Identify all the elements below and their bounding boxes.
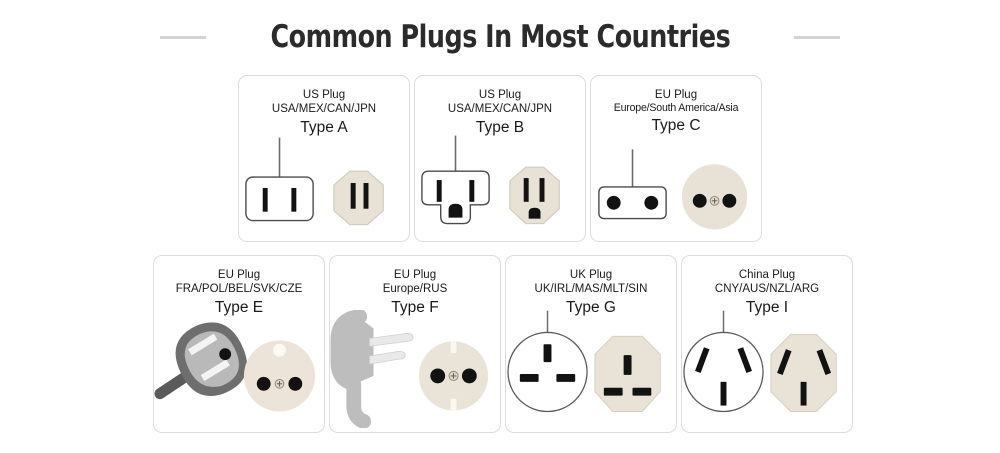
cn-type-i-socket-icon: [771, 334, 836, 411]
plug-countries: CNY/AUS/NZL/ARG: [685, 282, 849, 296]
uk-type-g-socket-icon: [595, 336, 660, 411]
plug-illustration-type-g: [506, 310, 676, 428]
plug-card-type-b[interactable]: US Plug USA/MEX/CAN/JPN Type B: [414, 75, 586, 242]
plug-type-label: Type C: [594, 116, 758, 135]
title-rule-right: [794, 36, 840, 39]
plug-countries: UK/IRL/MAS/MLT/SIN: [509, 282, 673, 296]
plug-name: EU Plug: [594, 88, 758, 102]
plug-name: EU Plug: [333, 268, 497, 282]
plug-illustration-type-e: [154, 310, 324, 428]
us-type-a-socket-icon: [334, 171, 383, 224]
plug-card-type-a[interactable]: US Plug USA/MEX/CAN/JPN Type A: [238, 75, 410, 242]
plug-card-type-e[interactable]: EU Plug FRA/POL/BEL/SVK/CZE Type E: [153, 255, 325, 433]
uk-type-g-plug-icon: [508, 311, 587, 412]
eu-type-c-socket-icon: [682, 164, 747, 229]
plug-illustration-type-f: [330, 310, 500, 428]
plug-card-type-f[interactable]: EU Plug Europe/RUS Type F: [329, 255, 501, 433]
card-text-type-b: US Plug USA/MEX/CAN/JPN Type B: [415, 88, 585, 137]
plug-name: China Plug: [685, 268, 849, 282]
plug-name: UK Plug: [509, 268, 673, 282]
eu-type-f-plug-icon: [336, 315, 413, 422]
plug-countries: FRA/POL/BEL/SVK/CZE: [157, 282, 321, 296]
title-rule-left: [160, 36, 206, 39]
eu-type-f-socket-icon: [419, 341, 488, 410]
plug-countries: USA/MEX/CAN/JPN: [418, 102, 582, 116]
card-text-type-c: EU Plug Europe/South America/Asia Type C: [591, 88, 761, 136]
plug-name: US Plug: [418, 88, 582, 102]
plug-illustration-type-c: [591, 135, 761, 235]
plug-countries: Europe/RUS: [333, 282, 497, 296]
plug-type-label: Type A: [242, 118, 406, 137]
plug-card-type-i[interactable]: China Plug CNY/AUS/NZL/ARG Type I: [681, 255, 853, 433]
plug-illustration-type-i: [682, 310, 852, 428]
plug-name: EU Plug: [157, 268, 321, 282]
eu-type-e-socket-icon: [244, 340, 315, 411]
us-type-b-plug-icon: [422, 136, 489, 224]
cn-type-i-plug-icon: [684, 311, 763, 412]
plug-card-type-g[interactable]: UK Plug UK/IRL/MAS/MLT/SIN Type G: [505, 255, 677, 433]
card-text-type-a: US Plug USA/MEX/CAN/JPN Type A: [239, 88, 409, 137]
plug-card-row-top: US Plug USA/MEX/CAN/JPN Type A: [238, 75, 762, 242]
page-title: Common Plugs In Most Countries: [270, 19, 730, 55]
plug-countries: Europe/South America/Asia: [594, 102, 758, 115]
plug-illustration-type-a: [239, 135, 409, 235]
plug-countries: USA/MEX/CAN/JPN: [242, 102, 406, 116]
page-header: Common Plugs In Most Countries: [0, 14, 1000, 60]
us-type-a-plug-icon: [246, 138, 313, 221]
plug-card-row-bottom: EU Plug FRA/POL/BEL/SVK/CZE Type E: [153, 255, 853, 433]
eu-type-e-plug-icon: [160, 313, 256, 406]
us-type-b-socket-icon: [510, 167, 559, 223]
plug-type-label: Type B: [418, 118, 582, 137]
plug-illustration-type-b: [415, 135, 585, 235]
plug-name: US Plug: [242, 88, 406, 102]
plug-card-type-c[interactable]: EU Plug Europe/South America/Asia Type C: [590, 75, 762, 242]
eu-type-c-plug-icon: [599, 149, 666, 218]
